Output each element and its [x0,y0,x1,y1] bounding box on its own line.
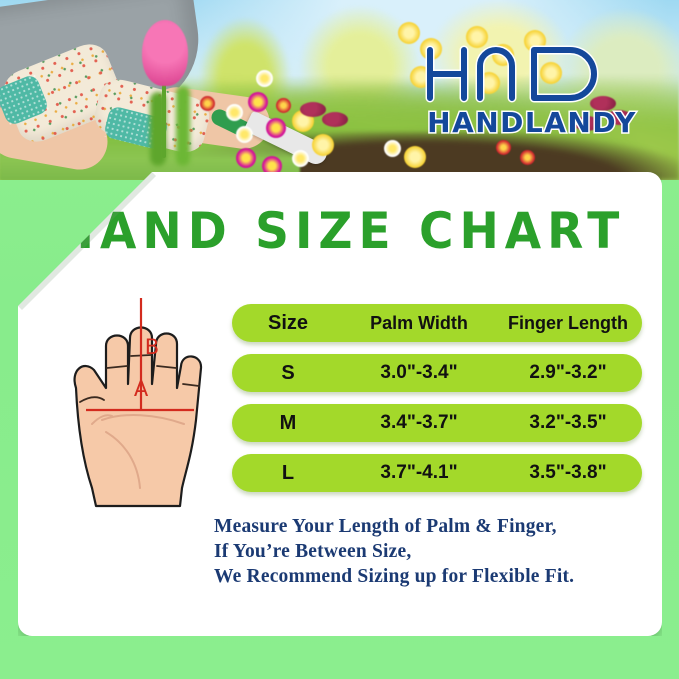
red-flower [276,98,291,113]
dark-red-flower [322,112,348,127]
page-root: HANDLANDY HAND SIZE CHART [0,0,679,679]
cell-value: S [281,362,294,384]
cell-palm-width: 3.0"-3.4" [344,362,494,384]
header-label: Palm Width [370,313,468,333]
daffodil-flower [398,22,420,44]
daffodil-flower [312,134,334,156]
hyacinth-flower [142,20,188,86]
cell-finger-length: 2.9"-3.2" [494,362,642,384]
cell-value: 3.7"-4.1" [380,462,457,483]
cell-finger-length: 3.2"-3.5" [494,412,642,434]
page-title: HAND SIZE CHART [18,202,662,260]
header-cell-size: Size [232,312,344,335]
white-flower [384,140,401,157]
cell-value: 3.4"-3.7" [380,412,457,433]
hand-marker-b: B [145,335,159,359]
header-cell-palm-width: Palm Width [344,313,494,334]
cell-palm-width: 3.4"-3.7" [344,412,494,434]
size-chart-card: HAND SIZE CHART [18,172,662,636]
brand-logo: HANDLANDY [424,42,640,138]
white-flower [226,104,243,121]
header-cell-finger-length: Finger Length [494,313,642,334]
measuring-instructions: Measure Your Length of Palm & Finger, If… [214,514,654,589]
cell-size: M [232,412,344,435]
table-row: S 3.0"-3.4" 2.9"-3.2" [232,354,642,392]
primrose-flower [266,118,286,138]
cell-value: M [280,412,297,434]
table-row: L 3.7"-4.1" 3.5"-3.8" [232,454,642,492]
cell-value: 3.2"-3.5" [529,412,606,433]
red-flower [520,150,535,165]
cell-size: L [232,462,344,485]
primrose-flower [248,92,268,112]
white-flower [292,150,309,167]
instruction-line-2: If You’re Between Size, [214,539,654,564]
white-flower [256,70,273,87]
cell-value: 3.0"-3.4" [380,362,457,383]
leaf-blade [150,92,166,166]
size-table: Size Palm Width Finger Length S 3.0"-3.4… [232,304,642,492]
red-flower [200,96,215,111]
cell-finger-length: 3.5"-3.8" [494,462,642,484]
header-label: Size [268,312,308,334]
cell-value: L [282,462,294,484]
instruction-line-3: We Recommend Sizing up for Flexible Fit. [214,564,654,589]
instruction-line-1: Measure Your Length of Palm & Finger, [214,514,654,539]
table-header-row: Size Palm Width Finger Length [232,304,642,342]
hand-marker-a: A [134,377,149,401]
cell-value: 3.5"-3.8" [529,462,606,483]
cell-value: 2.9"-3.2" [529,362,606,383]
header-label: Finger Length [508,313,628,333]
dark-red-flower [300,102,326,117]
leaf-blade [176,86,190,166]
table-row: M 3.4"-3.7" 3.2"-3.5" [232,404,642,442]
cell-size: S [232,362,344,385]
daffodil-flower [404,146,426,168]
brand-wordmark: HANDLANDY [427,106,637,138]
cell-palm-width: 3.7"-4.1" [344,462,494,484]
red-flower [496,140,511,155]
primrose-flower [236,148,256,168]
hand-diagram: A B [40,292,230,512]
white-flower [236,126,253,143]
